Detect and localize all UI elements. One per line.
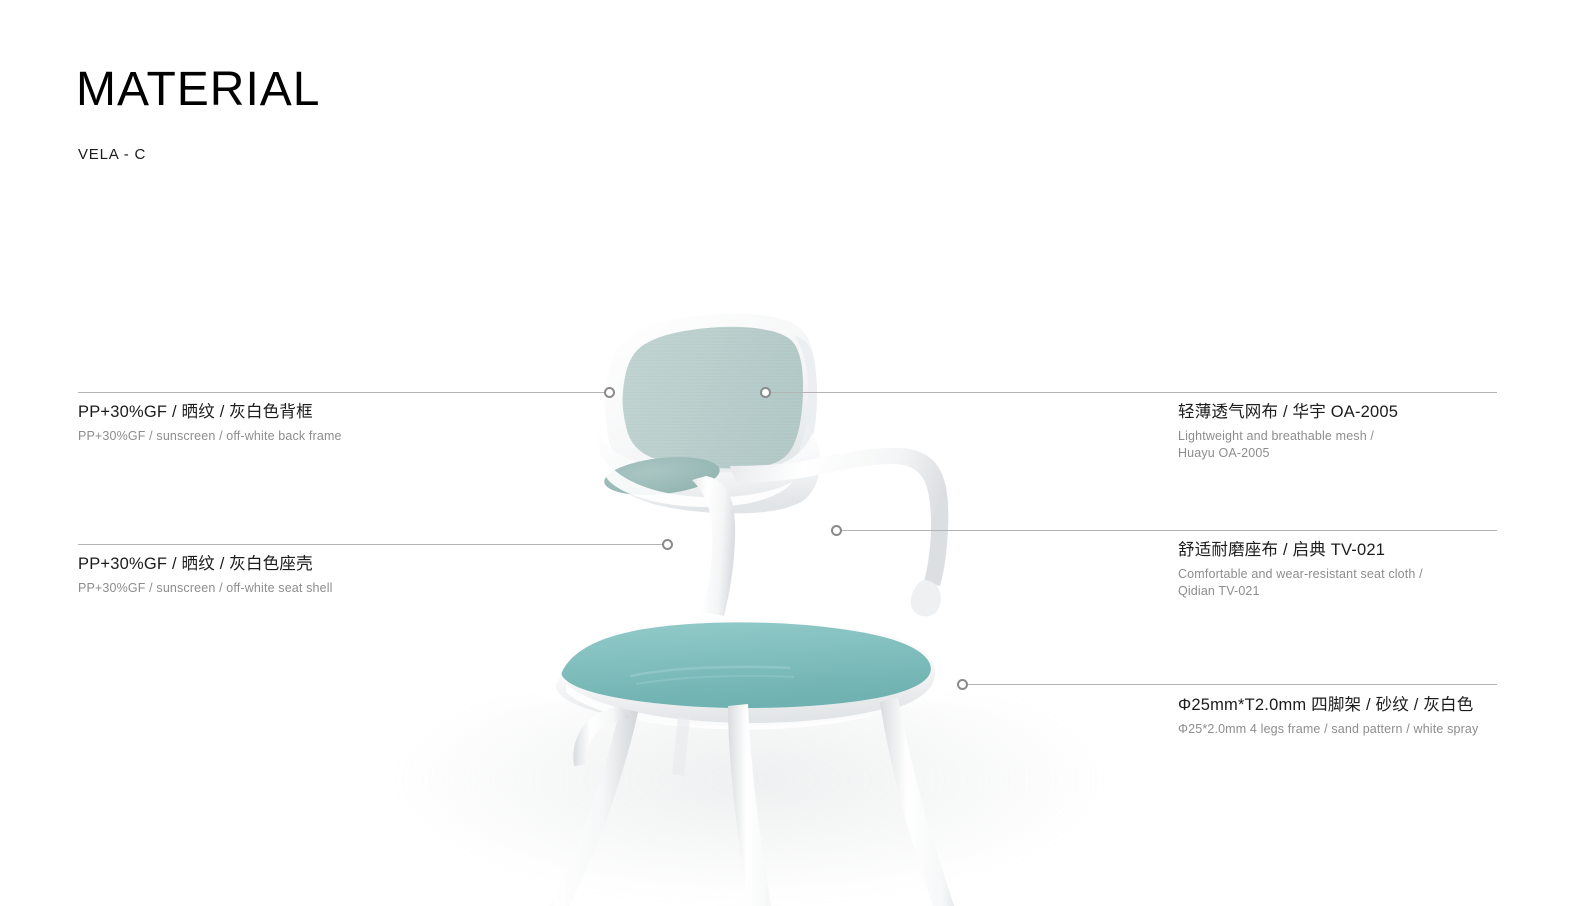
leg-rear-right <box>880 698 970 906</box>
chair-mesh-back <box>623 327 803 469</box>
callout-desc-legs-frame: Φ25*2.0mm 4 legs frame / sand pattern / … <box>1178 721 1558 738</box>
callout-title-mesh: 轻薄透气网布 / 华宇 OA-2005 <box>1178 401 1548 423</box>
callout-desc-back-frame: PP+30%GF / sunscreen / off-white back fr… <box>78 428 558 445</box>
product-model-label: VELA - C <box>78 146 146 163</box>
callout-rule-mesh <box>770 392 1497 393</box>
callout-rule-legs-frame <box>968 684 1497 685</box>
material-slide: MATERIAL VELA - C <box>0 0 1575 906</box>
callout-desc-mesh: Lightweight and breathable mesh / Huayu … <box>1178 428 1548 462</box>
callout-dot-back-frame[interactable] <box>604 387 615 398</box>
leg-front-center <box>728 704 790 906</box>
seat-cushion <box>562 622 931 708</box>
callout-desc-seat-shell: PP+30%GF / sunscreen / off-white seat sh… <box>78 580 558 597</box>
page-title: MATERIAL <box>76 66 320 114</box>
callout-dot-mesh[interactable] <box>760 387 771 398</box>
callout-rule-seat-shell <box>78 544 667 545</box>
callout-title-legs-frame: Φ25mm*T2.0mm 四脚架 / 砂纹 / 灰白色 <box>1178 694 1558 716</box>
callout-title-seat-cloth: 舒适耐磨座布 / 启典 TV-021 <box>1178 539 1548 561</box>
callout-dot-seat-cloth[interactable] <box>831 525 842 536</box>
chair-legs <box>519 698 971 906</box>
callout-rule-back-frame <box>78 392 605 393</box>
callout-dot-legs-frame[interactable] <box>957 679 968 690</box>
callout-rule-seat-cloth <box>842 530 1497 531</box>
callout-desc-seat-cloth: Comfortable and wear-resistant seat clot… <box>1178 566 1548 600</box>
callout-dot-seat-shell[interactable] <box>662 539 673 550</box>
callout-title-seat-shell: PP+30%GF / 晒纹 / 灰白色座壳 <box>78 553 558 575</box>
callout-title-back-frame: PP+30%GF / 晒纹 / 灰白色背框 <box>78 401 558 423</box>
